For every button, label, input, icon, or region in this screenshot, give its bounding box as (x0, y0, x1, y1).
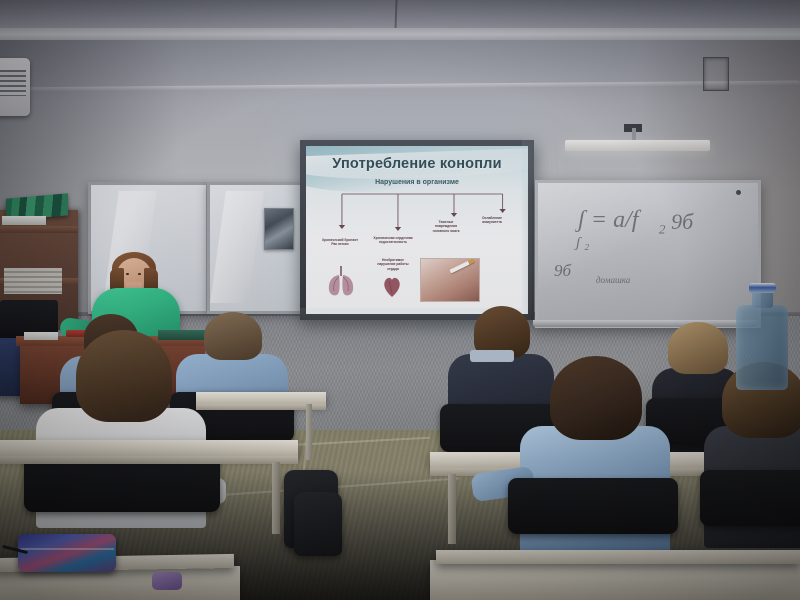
slide-branch-label-immune: Ослабление иммунитета (470, 216, 514, 225)
air-conditioner-louvers (0, 70, 26, 96)
ventilation-grille (703, 57, 729, 91)
whiteboard-scrawl: ₂ 9б (658, 209, 693, 235)
desk-foreground-right-top (436, 550, 800, 564)
slide-subtitle: Нарушения в организме (306, 179, 528, 186)
books-on-desk (158, 330, 210, 340)
water-cooler-bottle (736, 305, 788, 390)
shelf-board (0, 226, 78, 233)
slide-branch-label-brain: Тяжелые повреждения головного мозга (422, 220, 470, 233)
brain-with-cigarette-photo (420, 258, 480, 302)
ceiling-crack (394, 0, 397, 30)
student-hair (668, 322, 728, 374)
teacher-eye (138, 273, 141, 275)
presentation-slide: Употребление конопли Нарушения в организ… (306, 146, 528, 314)
classroom-photo-scene: Употребление конопли Нарушения в организ… (0, 0, 800, 600)
ceiling (0, 0, 800, 30)
desk (196, 392, 326, 404)
slide-title: Употребление конопли (306, 156, 528, 172)
teacher-eye (126, 273, 129, 275)
desk (0, 440, 298, 456)
papers-stack (2, 216, 46, 225)
whiteboard-glare (210, 191, 264, 303)
whiteboard-scrawl: ʃ = a/f (578, 207, 638, 234)
cigarette-icon (449, 259, 474, 274)
slide-branch-label-heart: Хроническая сердечная недостаточность (368, 236, 418, 245)
eraser[interactable] (152, 572, 182, 590)
whiteboard-scrawl: 9б (554, 261, 571, 281)
chair[interactable] (508, 478, 678, 534)
student-hair (204, 312, 262, 360)
lungs-illustration (326, 264, 356, 298)
whiteboard-right[interactable]: ʃ = a/f ʃ ₂ ₂ 9б 9б домашка (535, 180, 761, 328)
student-hair (76, 330, 172, 422)
desk-leg (306, 404, 312, 460)
backpack (294, 492, 342, 556)
pencil-case-zipper (20, 548, 114, 550)
desk-foreground-right (430, 560, 800, 600)
poster-on-whiteboard (264, 208, 294, 250)
papers-stack (4, 268, 62, 294)
air-conditioner (0, 58, 30, 116)
desk-edge (0, 456, 298, 464)
desk-leg (448, 474, 456, 544)
slide-branch-label-lungs: Хронический бронхит Рак легких (316, 238, 364, 247)
whiteboard-marker-tray (533, 320, 757, 327)
chair[interactable] (700, 470, 800, 526)
student-hair (550, 356, 642, 440)
whiteboard-magnet (736, 190, 741, 195)
whiteboard-scrawl: домашка (596, 275, 630, 285)
water-bottle-cap (749, 283, 776, 293)
desk-leg (272, 462, 280, 534)
slide-branch-label-heart2: Необратимое нарушение работы сердца (368, 258, 418, 271)
fluorescent-lamp (565, 140, 710, 151)
projection-screen: Употребление конопли Нарушения в организ… (300, 140, 534, 320)
slide-branch-connectors (306, 188, 528, 236)
heart-illustration (382, 274, 402, 298)
whiteboard-glare (538, 183, 758, 325)
pencil-case[interactable] (18, 534, 116, 572)
whiteboard-scrawl: ʃ ₂ (576, 235, 589, 252)
student-collar (470, 350, 514, 362)
papers-on-desk (24, 332, 58, 340)
